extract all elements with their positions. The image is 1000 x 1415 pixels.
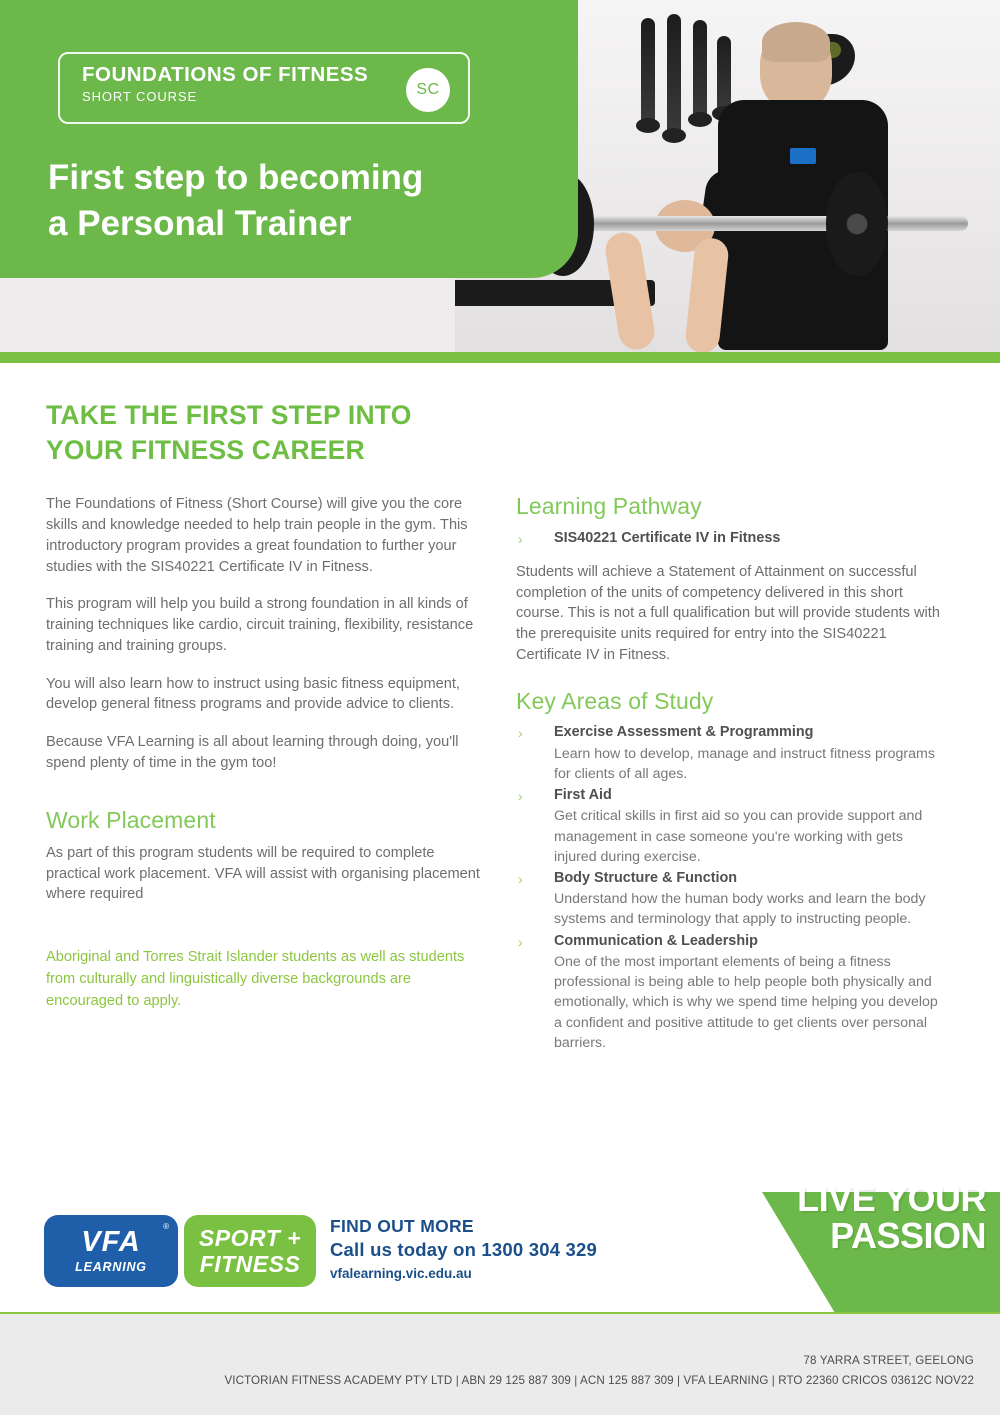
vfa-logo-sport: SPORT + bbox=[199, 1227, 301, 1250]
footer-legal-text: VICTORIAN FITNESS ACADEMY PTY LTD | ABN … bbox=[224, 1374, 974, 1387]
trainer-shirt-logo bbox=[790, 148, 816, 164]
vfa-logo-learning: LEARNING bbox=[75, 1260, 147, 1274]
vfa-logo: VFA LEARNING ® SPORT + FITNESS bbox=[44, 1215, 316, 1287]
contact-heading: FIND OUT MORE bbox=[330, 1216, 597, 1238]
page-title: TAKE THE FIRST STEP INTO YOUR FITNESS CA… bbox=[46, 398, 491, 468]
key-area-title: Body Structure & Function bbox=[554, 869, 948, 888]
rope-icon bbox=[717, 36, 731, 114]
hero-green-panel: FOUNDATIONS OF FITNESS SHORT COURSE SC F… bbox=[0, 0, 578, 278]
key-area-title: Communication & Leadership bbox=[554, 932, 948, 951]
inclusivity-statement: Aboriginal and Torres Strait Islander st… bbox=[46, 947, 491, 1013]
key-area-title: First Aid bbox=[554, 786, 948, 805]
weight-plate bbox=[826, 172, 888, 276]
chevron-right-icon: › bbox=[518, 933, 523, 952]
chevron-right-icon: › bbox=[518, 724, 523, 743]
contact-block: FIND OUT MORE Call us today on 1300 304 … bbox=[330, 1216, 597, 1281]
hero-banner: FOUNDATIONS OF FITNESS SHORT COURSE SC F… bbox=[0, 0, 1000, 363]
barbell-bar bbox=[548, 216, 968, 231]
learning-pathway-body: Students will achieve a Statement of Att… bbox=[516, 562, 948, 666]
intro-paragraph-4: Because VFA Learning is all about learni… bbox=[46, 732, 491, 773]
intro-paragraph-3: You will also learn how to instruct usin… bbox=[46, 674, 491, 715]
intro-paragraph-2: This program will help you build a stron… bbox=[46, 594, 491, 656]
page-title-line1: TAKE THE FIRST STEP INTO bbox=[46, 400, 412, 430]
contact-website-link[interactable]: vfalearning.vic.edu.au bbox=[330, 1266, 597, 1281]
right-column: Learning Pathway › SIS40221 Certificate … bbox=[516, 493, 948, 1067]
registered-trademark-icon: ® bbox=[163, 1222, 169, 1231]
key-areas-list: › Exercise Assessment & Programming Lear… bbox=[516, 723, 948, 1053]
course-badge: FOUNDATIONS OF FITNESS SHORT COURSE SC bbox=[58, 52, 470, 124]
passion-line1: LIVE YOUR bbox=[797, 1180, 986, 1217]
key-area-desc: Learn how to develop, manage and instruc… bbox=[554, 744, 948, 784]
work-placement-heading: Work Placement bbox=[46, 807, 491, 835]
hero-headline: First step to becoming a Personal Traine… bbox=[48, 155, 423, 247]
passion-line2: PASSION bbox=[797, 1217, 986, 1254]
footer-address: 78 YARRA STREET, GEELONG bbox=[803, 1354, 974, 1367]
chevron-right-icon: › bbox=[518, 530, 523, 549]
left-column: TAKE THE FIRST STEP INTO YOUR FITNESS CA… bbox=[46, 398, 491, 1013]
hero-headline-line1: First step to becoming bbox=[48, 155, 423, 201]
list-item: › First Aid Get critical skills in first… bbox=[516, 786, 948, 867]
hero-accent-bar bbox=[0, 352, 1000, 363]
legal-footer: 78 YARRA STREET, GEELONG VICTORIAN FITNE… bbox=[0, 1314, 1000, 1415]
key-area-desc: One of the most important elements of be… bbox=[554, 952, 948, 1053]
list-item: › Exercise Assessment & Programming Lear… bbox=[516, 723, 948, 784]
hero-headline-line2: a Personal Trainer bbox=[48, 201, 423, 247]
key-area-desc: Get critical skills in first aid so you … bbox=[554, 806, 948, 866]
vfa-logo-blue-block: VFA LEARNING ® bbox=[44, 1215, 178, 1287]
list-item: › Body Structure & Function Understand h… bbox=[516, 869, 948, 930]
short-course-badge-icon: SC bbox=[406, 68, 450, 112]
chevron-right-icon: › bbox=[518, 787, 523, 806]
trainer-head bbox=[760, 26, 832, 110]
page-title-line2: YOUR FITNESS CAREER bbox=[46, 435, 365, 465]
vfa-logo-fitness: FITNESS bbox=[200, 1253, 301, 1276]
contact-phone[interactable]: Call us today on 1300 304 329 bbox=[330, 1238, 597, 1263]
chevron-right-icon: › bbox=[518, 870, 523, 889]
rope-icon bbox=[641, 18, 655, 126]
key-area-title: Exercise Assessment & Programming bbox=[554, 723, 948, 742]
live-your-passion-text: LIVE YOUR PASSION bbox=[797, 1180, 986, 1254]
intro-paragraph-1: The Foundations of Fitness (Short Course… bbox=[46, 494, 491, 577]
footer-band: VFA LEARNING ® SPORT + FITNESS FIND OUT … bbox=[0, 1163, 1000, 1313]
learning-pathway-item-label: SIS40221 Certificate IV in Fitness bbox=[554, 530, 780, 546]
key-area-desc: Understand how the human body works and … bbox=[554, 889, 948, 929]
list-item: › Communication & Leadership One of the … bbox=[516, 932, 948, 1053]
key-areas-heading: Key Areas of Study bbox=[516, 688, 948, 716]
work-placement-body: As part of this program students will be… bbox=[46, 843, 491, 905]
rope-icon bbox=[667, 14, 681, 136]
vfa-logo-brand: VFA bbox=[81, 1228, 140, 1257]
vfa-logo-green-block: SPORT + FITNESS bbox=[184, 1215, 316, 1287]
rope-icon bbox=[693, 20, 707, 120]
learning-pathway-list: › SIS40221 Certificate IV in Fitness bbox=[516, 529, 948, 548]
learning-pathway-heading: Learning Pathway bbox=[516, 493, 948, 521]
main-content: TAKE THE FIRST STEP INTO YOUR FITNESS CA… bbox=[0, 363, 1000, 1163]
list-item: › SIS40221 Certificate IV in Fitness bbox=[516, 529, 948, 548]
